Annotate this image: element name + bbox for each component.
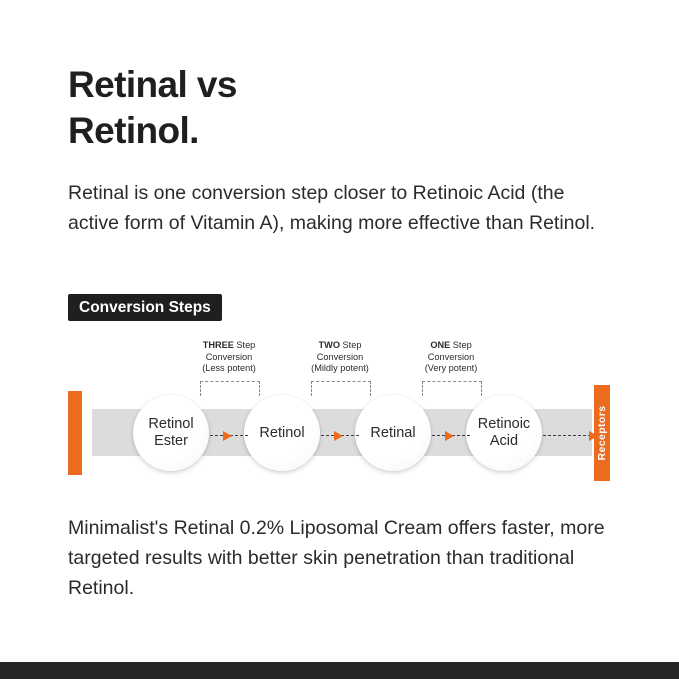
annotation-text: TWO Step Conversion (Mildly potent) bbox=[280, 340, 400, 375]
node-label-line-1: Retinoic bbox=[478, 416, 530, 432]
bottom-band bbox=[0, 662, 679, 679]
annotation-step: Step bbox=[234, 340, 255, 350]
node-label-line-1: Retinol bbox=[148, 416, 193, 432]
annotation-count: THREE bbox=[203, 340, 234, 350]
annotation-potency: (Less potent) bbox=[202, 363, 256, 373]
page-title-line-1: Retinal vs bbox=[68, 62, 608, 108]
arrowhead-icon bbox=[334, 431, 343, 441]
outro-paragraph: Minimalist's Retinal 0.2% Liposomal Crea… bbox=[68, 513, 623, 603]
conversion-steps-badge: Conversion Steps bbox=[68, 294, 222, 321]
node-retinol-ester: Retinol Ester bbox=[133, 395, 209, 471]
annotation-conversion: Conversion bbox=[317, 352, 363, 362]
annotation-text: ONE Step Conversion (Very potent) bbox=[391, 340, 511, 375]
arrowhead-icon bbox=[223, 431, 232, 441]
node-retinal: Retinal bbox=[355, 395, 431, 471]
page-title: Retinal vs Retinol. bbox=[68, 62, 608, 154]
annotation-bracket bbox=[311, 381, 371, 396]
infographic-page: Retinal vs Retinol. Retinal is one conve… bbox=[0, 0, 679, 679]
node-label-line-1: Retinal bbox=[370, 425, 415, 441]
annotation-three-step: THREE Step Conversion (Less potent) bbox=[169, 340, 289, 375]
annotation-text: THREE Step Conversion (Less potent) bbox=[169, 340, 289, 375]
node-label-line-2: Acid bbox=[490, 433, 518, 449]
node-label-line-1: Retinol bbox=[259, 425, 304, 441]
annotation-bracket bbox=[200, 381, 260, 396]
conversion-flow-diagram: Receptors THREE Step Conversion (Less po… bbox=[0, 340, 679, 490]
annotation-step: Step bbox=[450, 340, 471, 350]
node-label: Retinoic Acid bbox=[473, 416, 535, 450]
annotation-bracket bbox=[422, 381, 482, 396]
annotation-one-step: ONE Step Conversion (Very potent) bbox=[391, 340, 511, 375]
node-label: Retinal bbox=[365, 425, 420, 442]
annotation-potency: (Very potent) bbox=[425, 363, 478, 373]
annotation-two-step: TWO Step Conversion (Mildly potent) bbox=[280, 340, 400, 375]
node-retinoic-acid: Retinoic Acid bbox=[466, 395, 542, 471]
arrow-icon-retinol-to-retinal bbox=[321, 431, 359, 441]
annotation-count: ONE bbox=[430, 340, 450, 350]
annotation-conversion: Conversion bbox=[428, 352, 474, 362]
page-title-line-2: Retinol. bbox=[68, 108, 608, 154]
node-label: Retinol Ester bbox=[143, 416, 198, 450]
annotation-potency: (Mildly potent) bbox=[311, 363, 369, 373]
node-label-line-2: Ester bbox=[154, 433, 188, 449]
annotation-conversion: Conversion bbox=[206, 352, 252, 362]
arrow-icon-retinal-to-retinoic-acid bbox=[432, 431, 470, 441]
node-label: Retinol bbox=[254, 425, 309, 442]
arrowhead-icon bbox=[445, 431, 454, 441]
annotation-count: TWO bbox=[319, 340, 340, 350]
arrow-icon-retinol-ester-to-retinol bbox=[210, 431, 248, 441]
node-retinol: Retinol bbox=[244, 395, 320, 471]
source-bar bbox=[68, 391, 82, 475]
intro-paragraph: Retinal is one conversion step closer to… bbox=[68, 178, 613, 238]
annotation-step: Step bbox=[340, 340, 361, 350]
arrowhead-icon bbox=[589, 431, 598, 441]
arrow-icon-retinoic-acid-to-receptors bbox=[543, 431, 596, 441]
